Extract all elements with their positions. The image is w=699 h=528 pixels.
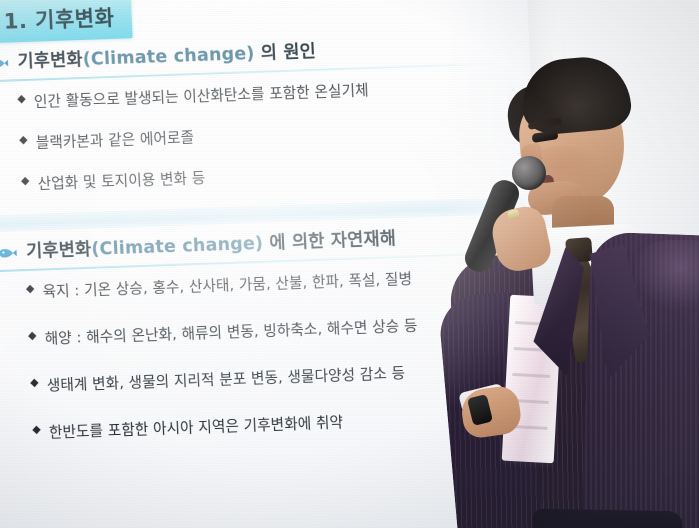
microphone-head — [512, 156, 546, 190]
bullet-text: 블랙카본과 같은 에어로졸 — [35, 126, 194, 153]
section-title-causes-ko-tail: 의 원인 — [254, 42, 316, 64]
slide-title: 1. 기후변화 — [3, 2, 115, 36]
diamond-bullet-icon: ◆ — [21, 173, 30, 189]
diamond-bullet-icon: ◆ — [32, 422, 41, 438]
bullet-text: 한반도를 포함한 아시아 지역은 기후변화에 취약 — [48, 411, 343, 442]
slide-title-banner: 1. 기후변화 — [0, 0, 133, 43]
diamond-bullet-icon: ◆ — [19, 132, 28, 148]
trousers — [531, 509, 682, 528]
presenter-figure — [436, 58, 699, 528]
diamond-bullet-icon: ◆ — [17, 91, 26, 107]
section-title-causes: 기후변화(Climate change) 의 원인 — [17, 38, 317, 73]
bullet-text: 해양 : 해수의 온난화, 해류의 변동, 빙하축소, 해수면 상승 등 — [44, 314, 418, 348]
section-title-disasters-en: (Climate change) — [91, 234, 264, 260]
bullet-text: 육지 : 기온 상승, 홍수, 산사태, 가뭄, 산불, 한파, 폭설, 질병 — [42, 268, 412, 302]
shoulder-highlight — [632, 240, 699, 310]
diamond-bullet-icon: ◆ — [28, 328, 37, 344]
fish-bullet-icon — [0, 55, 9, 69]
diamond-bullet-icon: ◆ — [30, 375, 39, 391]
fish-bullet-icon — [0, 244, 17, 258]
presentation-photo-scene: 1. 기후변화 기후변화(Climate change) 의 원인 — [0, 0, 699, 528]
section-title-causes-en: (Climate change) — [82, 44, 255, 70]
section-title-disasters-ko-lead: 기후변화 — [26, 240, 92, 262]
bullet-text: 인간 활동으로 발생되는 이산화탄소를 포함한 온실기체 — [33, 79, 369, 112]
bullet-text: 산업화 및 토지이용 변화 등 — [37, 167, 206, 194]
section-title-causes-ko-lead: 기후변화 — [17, 50, 83, 72]
section-title-disasters-ko-tail: 에 의한 자연재해 — [263, 229, 397, 254]
bullet-text: 생태계 변화, 생물의 지리적 분포 변동, 생물다양성 감소 등 — [46, 362, 405, 395]
diamond-bullet-icon: ◆ — [26, 281, 35, 297]
